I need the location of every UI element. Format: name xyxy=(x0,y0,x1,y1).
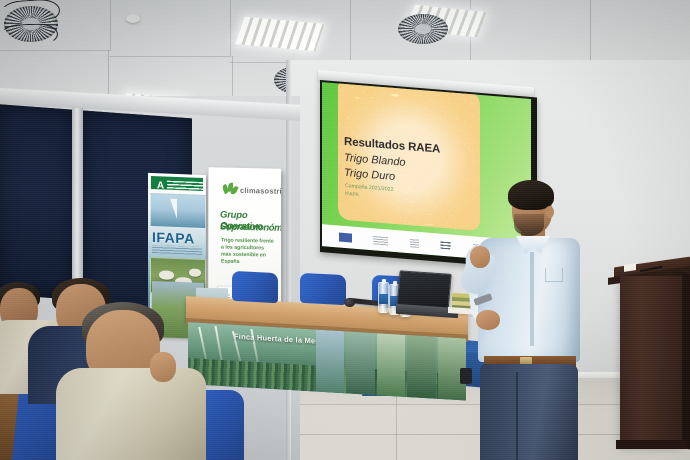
podium-body xyxy=(620,276,682,444)
wave-logo xyxy=(440,241,451,250)
audience-torso xyxy=(56,368,206,460)
presenter-beard xyxy=(514,214,544,236)
slide-subtitle-2: IFAPA xyxy=(345,191,359,198)
trouser-seam xyxy=(516,372,518,460)
ifapa-wordmark: IFAPA xyxy=(152,229,204,247)
chair xyxy=(300,273,346,305)
water-bottle[interactable] xyxy=(378,282,389,313)
banner-photo xyxy=(346,331,374,395)
climasostrigo-wordmark: climasostrigo xyxy=(240,186,281,196)
table-banner-photos xyxy=(316,330,466,401)
presenter-trousers xyxy=(480,364,578,460)
presentation-clicker[interactable] xyxy=(460,368,472,384)
banner-photo xyxy=(407,335,435,399)
partner-logo xyxy=(410,238,419,248)
junta-a-logo-icon: A xyxy=(155,180,166,191)
sailboat-photo xyxy=(150,193,206,229)
chair xyxy=(232,271,278,303)
eu-flag-logo xyxy=(339,232,352,242)
junta-andalucia-header: A xyxy=(151,176,203,191)
podium-base xyxy=(616,440,686,449)
presenter-ear xyxy=(545,206,554,218)
junta-header-text xyxy=(167,181,205,193)
presenter-hand-lower xyxy=(476,310,500,330)
bottle-label xyxy=(379,294,388,304)
climasostrigo-leaf-icon xyxy=(223,183,237,197)
slide-content: Resultados RAEA Trigo Blando Trigo Duro … xyxy=(322,82,531,263)
conference-room-photo: Resultados RAEA Trigo Blando Trigo Duro … xyxy=(0,0,690,460)
ministry-logo xyxy=(373,235,388,245)
ifapa-subtext xyxy=(152,245,202,255)
banner-tagline: Trigo resiliente frente a los agricultor… xyxy=(221,238,275,267)
smoke-detector-icon xyxy=(126,14,140,23)
air-vent-icon xyxy=(398,14,448,44)
presenter-hand-raised xyxy=(470,246,490,268)
shirt-pocket xyxy=(545,268,563,282)
banner-headline-2: Supraautonómico xyxy=(220,221,281,234)
banner-photo xyxy=(377,333,405,397)
shirt-placket xyxy=(530,252,534,346)
banner-photo xyxy=(316,330,344,394)
audience-hand xyxy=(150,352,176,382)
